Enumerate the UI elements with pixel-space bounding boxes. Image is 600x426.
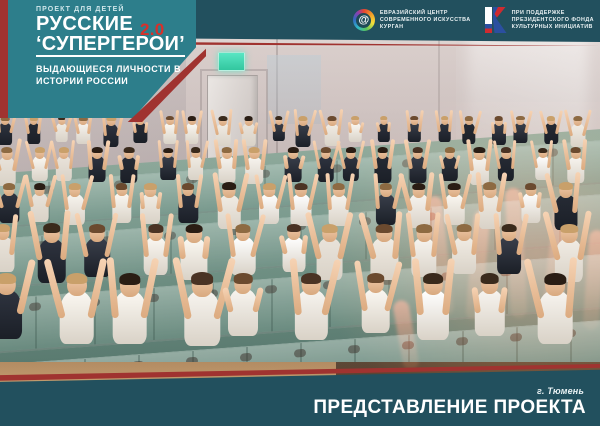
child-torso	[112, 291, 147, 344]
child-hair	[538, 148, 548, 153]
child-hair	[236, 224, 251, 233]
child-raised-arm	[581, 139, 587, 170]
seat-armrest	[29, 301, 41, 310]
child-figure	[179, 229, 225, 346]
child-hair	[123, 147, 134, 153]
child-hair	[416, 224, 432, 233]
at-symbol-icon: @	[353, 9, 375, 31]
child-hair	[412, 183, 425, 191]
child-hair	[244, 116, 253, 121]
child-raised-arm	[412, 258, 424, 315]
child-torso	[59, 291, 94, 344]
child-hair	[474, 147, 485, 153]
child-hair	[1, 147, 12, 153]
child-hair	[502, 224, 517, 232]
child-raised-arm	[498, 287, 508, 313]
child-hair	[380, 183, 392, 190]
child-hair	[525, 183, 537, 190]
brand-kicker: ПРОЕКТ ДЛЯ ДЕТЕЙ	[36, 6, 196, 13]
brand-title-line1: РУССКИЕ	[36, 15, 196, 34]
child-hair	[328, 116, 337, 121]
seat-armrest	[294, 348, 306, 357]
child-hair	[445, 147, 455, 153]
child-hair	[0, 273, 16, 284]
child-raised-arm	[107, 256, 120, 318]
seat-armrest	[510, 332, 522, 341]
child-hair	[321, 147, 331, 153]
seat-armrest	[348, 344, 360, 353]
child-hair	[346, 147, 356, 153]
child-hair	[188, 116, 196, 121]
child-hair	[287, 224, 301, 232]
child-raised-arm	[565, 256, 577, 318]
child-hair	[376, 224, 393, 233]
child-hair	[119, 273, 140, 285]
child-hair	[301, 273, 321, 284]
child-figure	[107, 230, 152, 345]
child-hair	[249, 147, 260, 153]
child-hair	[298, 116, 307, 121]
child-hair	[191, 147, 201, 153]
child-figure	[86, 127, 108, 183]
child-hair	[573, 116, 582, 121]
child-hair	[377, 147, 388, 153]
child-raised-arm	[442, 258, 455, 315]
child-hair	[448, 183, 461, 190]
seat-armrest	[402, 340, 414, 349]
child-hair	[516, 116, 524, 121]
seat-armrest	[265, 284, 277, 293]
child-figure	[0, 234, 27, 340]
child-raised-arm	[213, 172, 223, 212]
child-hair	[494, 116, 503, 121]
child-hair	[275, 116, 283, 120]
seat-armrest	[240, 352, 252, 361]
child-figure	[290, 233, 332, 340]
seat-armrest	[456, 336, 468, 345]
child-figure	[357, 238, 394, 332]
child-figure	[412, 233, 454, 339]
child-raised-arm	[511, 140, 517, 169]
child-hair	[163, 148, 173, 153]
child-hair	[412, 147, 422, 153]
child-raised-arm	[144, 122, 148, 133]
child-figure	[223, 236, 262, 335]
child-hair	[351, 116, 359, 120]
poster-root: ПРОЕКТ ДЛЯ ДЕТЕЙ РУССКИЕ ‘СУПЕРГЕРОИ’ 2.…	[0, 0, 600, 426]
child-hair	[4, 183, 16, 190]
child-hair	[483, 182, 497, 190]
child-hair	[219, 116, 228, 121]
child-hair	[263, 183, 275, 190]
brand-subtitle: ВЫДАЮЩИЕСЯ ЛИЧНОСТИ В ИСТОРИИ РОССИИ	[36, 64, 196, 87]
child-hair	[0, 224, 10, 232]
child-hair	[295, 183, 308, 190]
brand-block: ПРОЕКТ ДЛЯ ДЕТЕЙ РУССКИЕ ‘СУПЕРГЕРОИ’ 2.…	[36, 6, 196, 87]
logo-eurasian-center: @ ЕВРАЗИЙСКИЙ ЦЕНТР СОВРЕМЕННОГО ИСКУССТ…	[353, 9, 471, 31]
child-hair	[69, 183, 81, 190]
child-hair	[288, 147, 298, 153]
child-hair	[66, 273, 87, 285]
child-torso	[228, 289, 258, 335]
k-tricolor-icon	[485, 7, 507, 33]
child-hair	[501, 147, 511, 153]
child-hair	[222, 147, 232, 153]
child-hair	[223, 182, 237, 190]
child-hair	[367, 273, 385, 283]
child-hair	[192, 272, 214, 284]
child-hair	[545, 273, 566, 285]
child-hair	[116, 183, 128, 190]
brand-version: 2.0	[140, 20, 165, 40]
exit-sign-icon	[218, 52, 245, 71]
child-hair	[570, 147, 581, 153]
child-hair	[92, 147, 102, 153]
at-symbol-glyph: @	[356, 13, 371, 28]
child-hair	[457, 224, 472, 232]
partner-logos: @ ЕВРАЗИЙСКИЙ ЦЕНТР СОВРЕМЕННОГО ИСКУССТ…	[353, 7, 594, 33]
child-hair	[441, 116, 449, 120]
title-panel-left-bar	[0, 0, 8, 118]
child-hair	[144, 183, 156, 190]
child-hair	[332, 183, 345, 190]
child-figure	[54, 230, 99, 345]
footer-text-block: г. Тюмень ПРЕДСТАВЛЕНИЕ ПРОЕКТА	[313, 386, 586, 418]
child-torso	[185, 291, 220, 345]
child-hair	[182, 183, 194, 190]
child-hair	[423, 273, 443, 284]
child-hair	[321, 224, 338, 233]
child-hair	[59, 147, 69, 153]
child-figure	[533, 230, 578, 345]
child-hair	[411, 116, 419, 120]
child-hair	[480, 273, 499, 284]
child-hair	[465, 116, 473, 121]
child-raised-arm	[290, 258, 302, 316]
child-hair	[547, 116, 555, 121]
child-figure	[470, 236, 510, 337]
child-hair	[380, 116, 388, 120]
child-hair	[35, 147, 45, 153]
footer-title: ПРЕДСТАВЛЕНИЕ ПРОЕКТА	[313, 398, 586, 418]
child-hair	[166, 116, 174, 121]
logo-eurasian-text: ЕВРАЗИЙСКИЙ ЦЕНТР СОВРЕМЕННОГО ИСКУССТВА…	[380, 10, 471, 31]
logo-presidential-fund: ПРИ ПОДДЕРЖКЕ ПРЕЗИДЕНТСКОГО ФОНДА КУЛЬТ…	[485, 7, 594, 33]
child-raised-arm	[536, 192, 542, 209]
footer-city: г. Тюмень	[313, 386, 584, 396]
logo-fund-text: ПРИ ПОДДЕРЖКЕ ПРЕЗИДЕНТСКОГО ФОНДА КУЛЬТ…	[512, 10, 594, 31]
child-hair	[234, 273, 252, 283]
